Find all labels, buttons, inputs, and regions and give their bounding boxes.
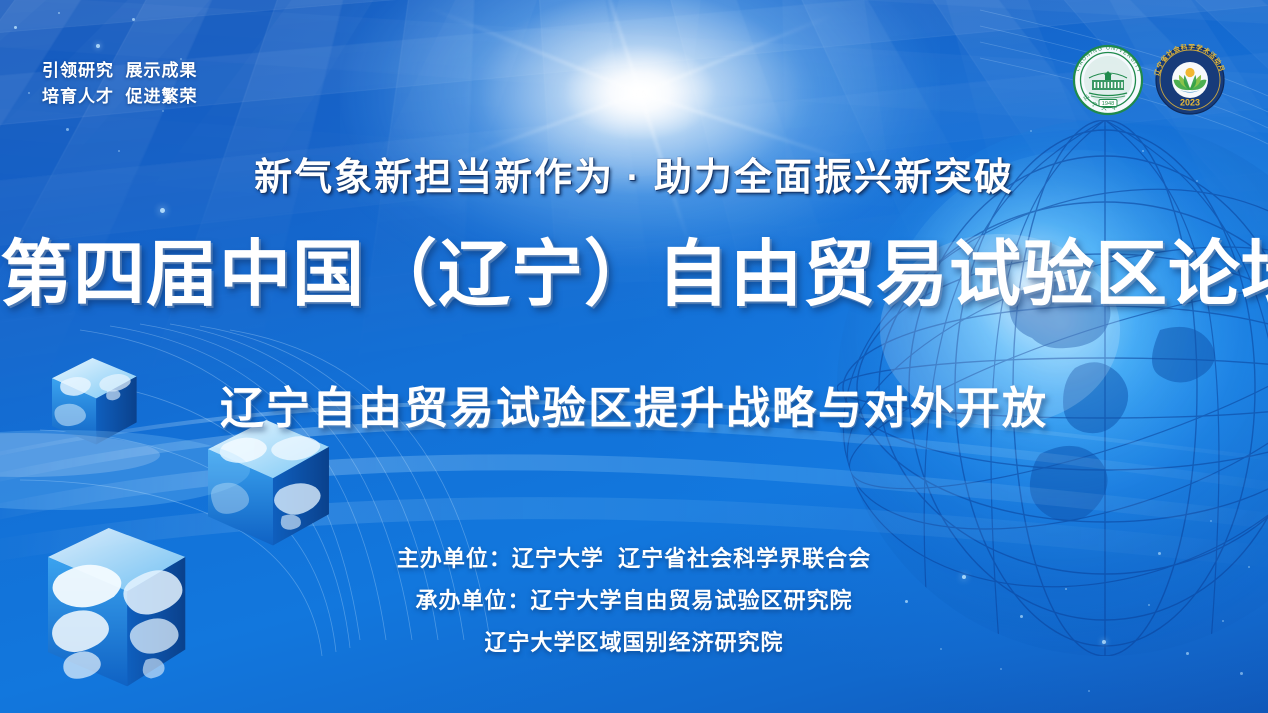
- logo-group: LIAONING UNIVERSITY 辽 宁 大 学: [1072, 44, 1226, 116]
- social-science-event-logo-icon: 辽宁省社会科学学术活动月 2023: [1154, 44, 1226, 116]
- liaoning-university-logo: LIAONING UNIVERSITY 辽 宁 大 学: [1072, 44, 1144, 116]
- slogan-line-2: 培育人才 促进繁荣: [42, 84, 197, 110]
- event-year: 2023: [1180, 98, 1200, 108]
- organizer-line-coorganizer-2: 辽宁大学区域国别经济研究院: [0, 622, 1268, 664]
- slogan-block: 引领研究 展示成果 培育人才 促进繁荣: [42, 58, 197, 110]
- university-founding-year: 1948: [1102, 101, 1114, 107]
- banner-stage: 引领研究 展示成果 培育人才 促进繁荣 LIAONING UNIVERSITY …: [0, 0, 1268, 713]
- social-science-event-logo: 辽宁省社会科学学术活动月 2023: [1154, 44, 1226, 116]
- conference-theme-line: 新气象新担当新作为 · 助力全面振兴新突破: [0, 146, 1268, 201]
- organizer-line-host: 主办单位：辽宁大学 辽宁省社会科学界联合会: [0, 538, 1268, 580]
- organizer-line-coorganizer-1: 承办单位：辽宁大学自由贸易试验区研究院: [0, 580, 1268, 622]
- conference-subtitle: 辽宁自由贸易试验区提升战略与对外开放: [0, 372, 1268, 436]
- world-map-cube-icon: [208, 420, 329, 545]
- organizers-block: 主办单位：辽宁大学 辽宁省社会科学界联合会 承办单位：辽宁大学自由贸易试验区研究…: [0, 538, 1268, 664]
- conference-main-title: 第四届中国（辽宁）自由贸易试验区论坛: [0, 232, 1268, 318]
- liaoning-university-logo-icon: LIAONING UNIVERSITY 辽 宁 大 学: [1072, 44, 1144, 116]
- slogan-line-1: 引领研究 展示成果: [42, 58, 197, 84]
